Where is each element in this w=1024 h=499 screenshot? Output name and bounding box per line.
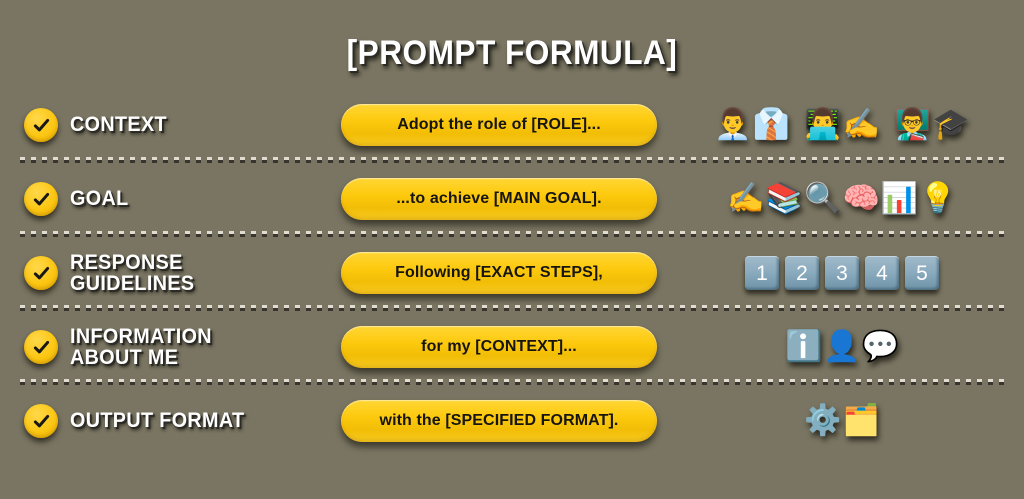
goal-icons-group: ✍️ 📚 🔍 🧠 📊 💡 — [727, 184, 956, 214]
keycap-4: 4 — [865, 256, 899, 290]
formula-row-goal: GOAL ...to achieve [MAIN GOAL]. ✍️ 📚 🔍 🧠… — [0, 162, 1024, 236]
page-title: [PROMPT FORMULA] — [36, 34, 988, 73]
formula-row-output-format: OUTPUT FORMAT with the [SPECIFIED FORMAT… — [0, 384, 1024, 458]
necktie-icon: 👔 — [753, 110, 790, 140]
check-circle-icon — [24, 108, 58, 142]
output-icons-group: ⚙️ 🗂️ — [804, 406, 880, 436]
emoji-column-context: 👨‍💼 👔 👨‍💻 ✍️ 👨‍🏫 🎓 — [672, 88, 1012, 162]
keycap-5: 5 — [905, 256, 939, 290]
prompt-pill-goal[interactable]: ...to achieve [MAIN GOAL]. — [341, 178, 657, 220]
writing-hand-icon: ✍️ — [843, 110, 880, 140]
emoji-column-information: ℹ️ 👤 💬 — [672, 310, 1012, 384]
check-circle-icon — [24, 330, 58, 364]
pill-wrapper-output-format: with the [SPECIFIED FORMAT]. — [340, 384, 658, 458]
bar-chart-icon: 📊 — [881, 184, 918, 214]
card-index-dividers-icon: 🗂️ — [843, 406, 880, 436]
pill-wrapper-information-about-me: for my [CONTEXT]... — [340, 310, 658, 384]
row-label-text: RESPONSE GUIDELINES — [70, 252, 194, 295]
row-label-context: CONTEXT — [24, 88, 324, 162]
emoji-column-output: ⚙️ 🗂️ — [672, 384, 1012, 458]
office-worker-icon: 👨‍💼 — [714, 110, 751, 140]
keycap-1: 1 — [745, 256, 779, 290]
office-worker-group: 👨‍💼 👔 — [714, 110, 790, 140]
formula-row-information-about-me: INFORMATION ABOUT ME for my [CONTEXT]...… — [0, 310, 1024, 384]
formula-rows: CONTEXT Adopt the role of [ROLE]... 👨‍💼 … — [0, 88, 1024, 458]
row-label-text: CONTEXT — [70, 114, 167, 135]
keycap-2: 2 — [785, 256, 819, 290]
formula-row-response-guidelines: RESPONSE GUIDELINES Following [EXACT STE… — [0, 236, 1024, 310]
row-label-text: INFORMATION ABOUT ME — [70, 326, 212, 369]
check-circle-icon — [24, 404, 58, 438]
emoji-column-goal: ✍️ 📚 🔍 🧠 📊 💡 — [672, 162, 1012, 236]
magnifying-glass-icon: 🔍 — [804, 184, 841, 214]
check-circle-icon — [24, 256, 58, 290]
information-icon: ℹ️ — [785, 332, 822, 362]
row-label-information-about-me: INFORMATION ABOUT ME — [24, 310, 324, 384]
prompt-pill-output-format[interactable]: with the [SPECIFIED FORMAT]. — [341, 400, 657, 442]
row-label-text: GOAL — [70, 188, 129, 209]
graduation-cap-icon: 🎓 — [932, 110, 969, 140]
teacher-icon: 👨‍🏫 — [894, 110, 931, 140]
prompt-pill-response-guidelines[interactable]: Following [EXACT STEPS], — [341, 252, 657, 294]
keycap-3: 3 — [825, 256, 859, 290]
writing-hand-icon: ✍️ — [727, 184, 764, 214]
light-bulb-icon: 💡 — [919, 184, 956, 214]
info-icons-group: ℹ️ 👤 💬 — [785, 332, 899, 362]
gear-icon: ⚙️ — [804, 406, 841, 436]
row-label-goal: GOAL — [24, 162, 324, 236]
technologist-group: 👨‍💻 ✍️ — [804, 110, 880, 140]
bust-silhouette-icon: 👤 — [823, 332, 860, 362]
row-label-response-guidelines: RESPONSE GUIDELINES — [24, 236, 324, 310]
brain-icon: 🧠 — [843, 184, 880, 214]
prompt-pill-information-about-me[interactable]: for my [CONTEXT]... — [341, 326, 657, 368]
row-label-text: OUTPUT FORMAT — [70, 410, 244, 431]
teacher-group: 👨‍🏫 🎓 — [894, 110, 970, 140]
check-circle-icon — [24, 182, 58, 216]
speech-balloon-icon: 💬 — [862, 332, 899, 362]
pill-wrapper-goal: ...to achieve [MAIN GOAL]. — [340, 162, 658, 236]
pill-wrapper-response-guidelines: Following [EXACT STEPS], — [340, 236, 658, 310]
technologist-icon: 👨‍💻 — [804, 110, 841, 140]
pill-wrapper-context: Adopt the role of [ROLE]... — [340, 88, 658, 162]
prompt-pill-context[interactable]: Adopt the role of [ROLE]... — [341, 104, 657, 146]
prompt-formula-infographic: [PROMPT FORMULA] CONTEXT Adopt the role … — [0, 0, 1024, 499]
formula-row-context: CONTEXT Adopt the role of [ROLE]... 👨‍💼 … — [0, 88, 1024, 162]
books-icon: 📚 — [766, 184, 803, 214]
keycap-row: 1 2 3 4 5 — [672, 236, 1012, 310]
row-label-output-format: OUTPUT FORMAT — [24, 384, 324, 458]
